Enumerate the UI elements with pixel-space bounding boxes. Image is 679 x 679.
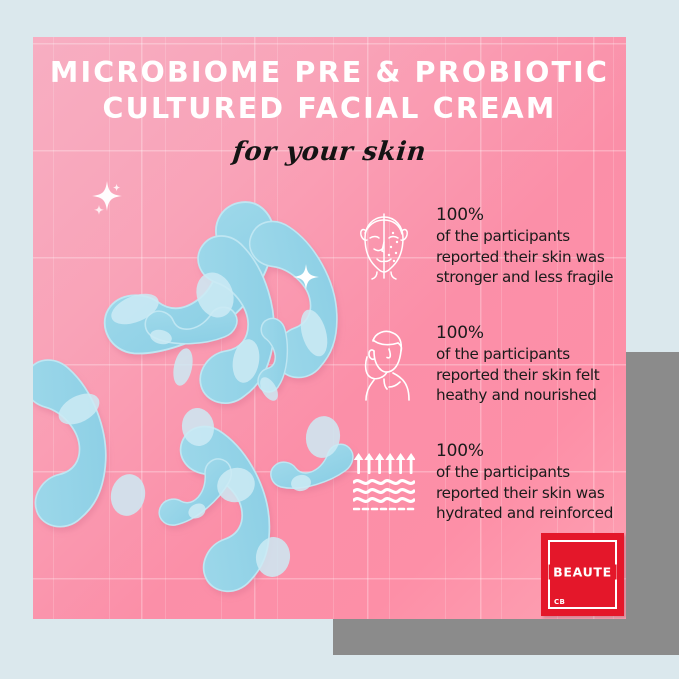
brand-logo[interactable]: BEAUTE CB: [541, 533, 624, 616]
woman-touching-face-icon: [353, 327, 415, 401]
logo-sub-label: CB: [552, 598, 567, 606]
claim-text-1: 100% of the participants reported their …: [436, 205, 626, 288]
claim-item-2: 100% of the participants reported their …: [353, 323, 626, 441]
hydration-arrows-waves-icon: [353, 451, 415, 525]
claim-item-1: 100% of the participants reported their …: [353, 205, 626, 323]
claim-percent-1: 100%: [436, 205, 626, 226]
probiotic-blobs-illustration: [33, 37, 393, 619]
product-claims-card: MICROBIOME PRE & PROBIOTIC CULTURED FACI…: [33, 37, 626, 619]
claims-list: 100% of the participants reported their …: [353, 205, 626, 559]
claim-description-3: of the participants reported their skin …: [436, 462, 626, 524]
claim-text-2: 100% of the participants reported their …: [436, 323, 626, 406]
split-face-icon: [353, 209, 415, 283]
claim-percent-3: 100%: [436, 441, 626, 462]
sparkle-icon-left: [85, 175, 129, 224]
claim-description-1: of the participants reported their skin …: [436, 226, 626, 288]
claim-text-3: 100% of the participants reported their …: [436, 441, 626, 524]
logo-brand-name: BEAUTE: [548, 565, 617, 580]
sparkle-icon-blob: [291, 262, 321, 297]
poster-stage: MICROBIOME PRE & PROBIOTIC CULTURED FACI…: [0, 0, 679, 679]
claim-description-2: of the participants reported their skin …: [436, 344, 626, 406]
claim-percent-2: 100%: [436, 323, 626, 344]
